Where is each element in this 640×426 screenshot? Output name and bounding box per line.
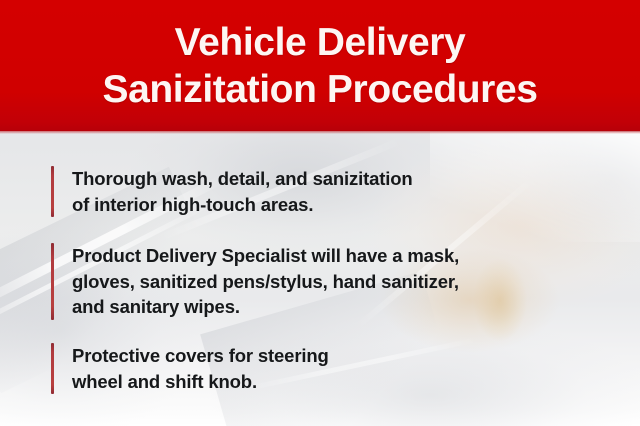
bullet-text-wash-detail-sanizitation: Thorough wash, detail, and sanizitation … — [72, 166, 413, 217]
bullet-accent-rule-icon — [51, 166, 54, 217]
bullet-text-specialist-ppe: Product Delivery Specialist will have a … — [72, 243, 459, 320]
poster-title-line-2: Sanizitation Procedures — [102, 66, 537, 113]
bullet-text-protective-covers: Protective covers for steering wheel and… — [72, 343, 329, 394]
bullet-item-specialist-ppe: Product Delivery Specialist will have a … — [51, 243, 459, 320]
header-banner: Vehicle Delivery Sanizitation Procedures — [0, 0, 640, 131]
sanitization-procedures-poster: Vehicle Delivery Sanizitation Procedures… — [0, 0, 640, 426]
bullet-accent-rule-icon — [51, 343, 54, 394]
bullet-list: Thorough wash, detail, and sanizitation … — [0, 131, 640, 426]
poster-title-line-1: Vehicle Delivery — [175, 19, 466, 66]
bullet-item-protective-covers: Protective covers for steering wheel and… — [51, 343, 329, 394]
bullet-item-wash-detail-sanizitation: Thorough wash, detail, and sanizitation … — [51, 166, 413, 217]
bullet-accent-rule-icon — [51, 243, 54, 320]
